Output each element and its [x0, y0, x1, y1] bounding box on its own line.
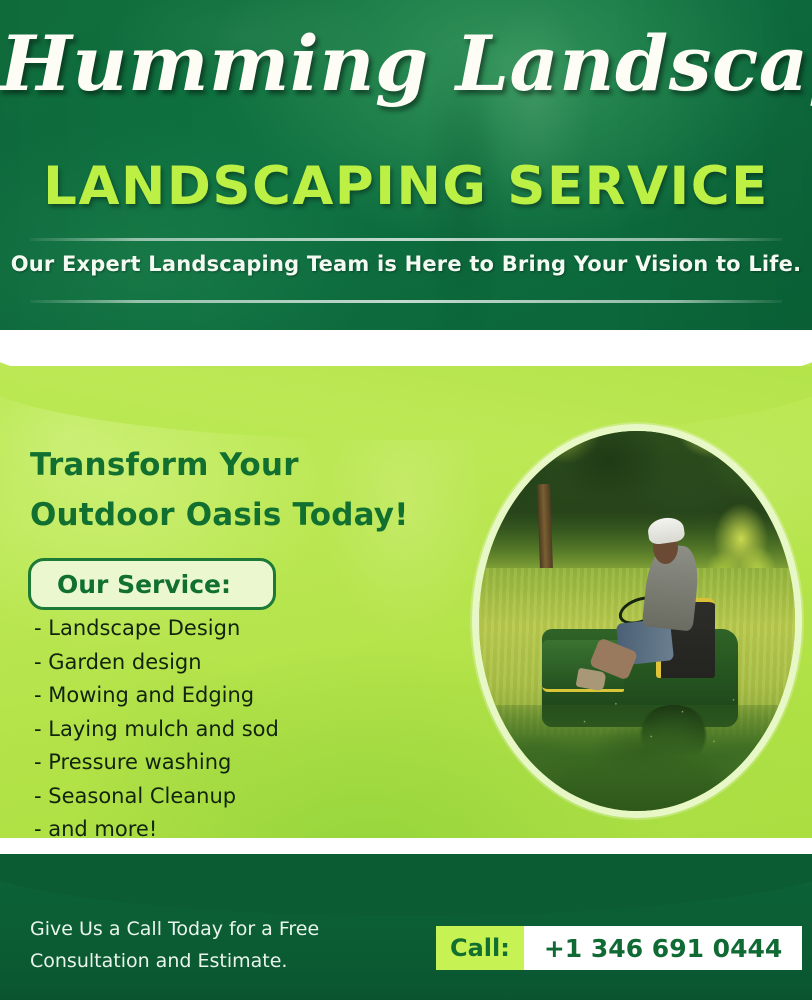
footer-cta-line1: Give Us a Call Today for a Free: [30, 913, 420, 946]
divider-line-top: [30, 238, 782, 241]
photo-background: [479, 431, 795, 811]
our-service-badge-label: Our Service:: [31, 570, 231, 599]
divider-line-bottom: [30, 300, 782, 303]
main-heading-line2: Outdoor Oasis Today!: [30, 490, 450, 540]
footer-cta-line2: Consultation and Estimate.: [30, 945, 420, 978]
main-heading-line1: Transform Your: [30, 440, 450, 490]
list-item: - Landscape Design: [34, 612, 464, 646]
brand-title: Humming Landscaping: [0, 26, 812, 102]
lawn-mower-photo: [472, 424, 802, 818]
list-item: - and more!: [34, 813, 464, 847]
header-tagline: Our Expert Landscaping Team is Here to B…: [0, 252, 812, 276]
landscaping-flyer: Humming Landscaping LANDSCAPING SERVICE …: [0, 0, 812, 1000]
list-item: - Seasonal Cleanup: [34, 780, 464, 814]
header-headline: LANDSCAPING SERVICE: [0, 160, 812, 213]
list-item: - Garden design: [34, 646, 464, 680]
list-item: - Laying mulch and sod: [34, 713, 464, 747]
call-label: Call:: [436, 926, 524, 970]
main-heading: Transform Your Outdoor Oasis Today!: [30, 440, 450, 540]
call-cta[interactable]: Call: +1 346 691 0444: [436, 926, 802, 970]
service-list: - Landscape Design - Garden design - Mow…: [34, 612, 464, 847]
phone-number[interactable]: +1 346 691 0444: [524, 926, 802, 970]
photo-grass-clippings: [561, 682, 757, 781]
list-item: - Mowing and Edging: [34, 679, 464, 713]
list-item: - Pressure washing: [34, 746, 464, 780]
footer-cta-text: Give Us a Call Today for a Free Consulta…: [30, 913, 420, 978]
our-service-badge: Our Service:: [28, 558, 276, 610]
